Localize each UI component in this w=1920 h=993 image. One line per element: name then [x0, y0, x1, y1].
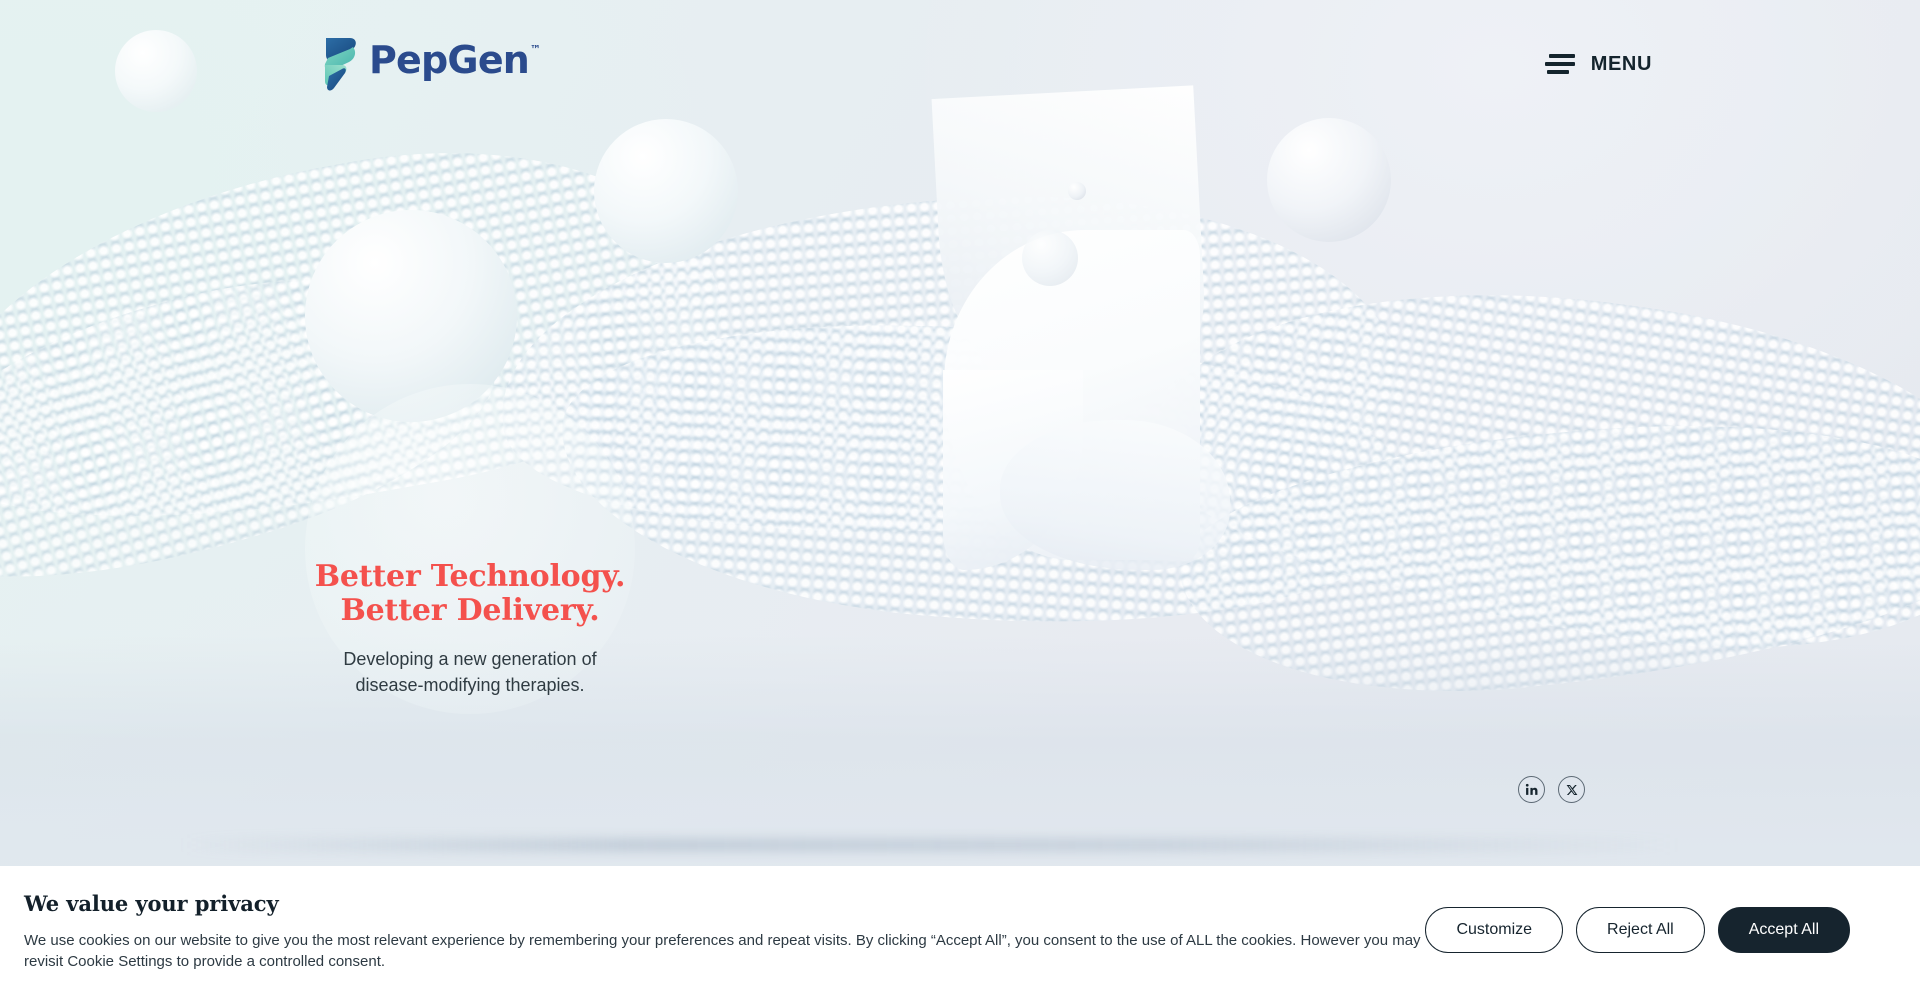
decorative-ribbon-sheet — [943, 370, 1083, 570]
hero-background — [0, 0, 1920, 866]
social-links — [1518, 776, 1585, 803]
pepgen-ribbon-mark-icon — [320, 36, 360, 92]
decorative-wave-band — [1131, 242, 1920, 688]
site-header: PepGen ™ MENU — [0, 0, 1920, 128]
decorative-ribbon-sheet — [944, 230, 1200, 560]
customize-cookies-button[interactable]: Customize — [1425, 907, 1563, 953]
cookie-text-block: We value your privacy We use cookies on … — [24, 887, 1425, 973]
decorative-sphere — [594, 119, 738, 263]
floor-reflection-streak — [180, 838, 1680, 852]
hero-title-line-1: Better Technology. — [315, 559, 626, 594]
decorative-wave-band — [551, 300, 1429, 649]
decorative-ribbon-sheet — [1000, 420, 1230, 570]
cookie-banner-title: We value your privacy — [24, 891, 1425, 916]
decorative-ribbon-sheet — [932, 85, 1211, 428]
logo-wordmark: PepGen ™ — [369, 36, 540, 79]
decorative-sphere — [1022, 230, 1078, 286]
linkedin-icon — [1525, 783, 1538, 796]
hero-title-line-2: Better Delivery. — [341, 593, 600, 628]
decorative-sphere — [1267, 118, 1391, 242]
social-link-linkedin[interactable] — [1518, 776, 1545, 803]
hero-title: Better Technology. Better Delivery. — [305, 560, 635, 627]
decorative-sphere — [1068, 182, 1086, 200]
menu-button[interactable]: MENU — [1543, 47, 1654, 82]
page-root: PepGen ™ MENU Better Technology. Better … — [0, 0, 1920, 993]
cookie-banner-actions: Customize Reject All Accept All — [1425, 907, 1864, 953]
menu-button-label: MENU — [1591, 53, 1652, 76]
hero-copy: Better Technology. Better Delivery. Deve… — [305, 560, 635, 699]
logo-trademark: ™ — [530, 44, 540, 55]
hamburger-icon — [1545, 54, 1575, 74]
hero-subtitle: Developing a new generation of disease-m… — [305, 646, 635, 699]
accept-all-cookies-button[interactable]: Accept All — [1718, 907, 1850, 953]
cookie-consent-banner: We value your privacy We use cookies on … — [0, 866, 1920, 993]
reject-all-cookies-button[interactable]: Reject All — [1576, 907, 1705, 953]
hero-subtitle-line-2: disease-modifying therapies. — [355, 675, 584, 695]
logo-brand-name: PepGen — [369, 41, 529, 79]
x-icon — [1566, 784, 1578, 796]
floor-gradient — [0, 636, 1920, 866]
logo-link[interactable]: PepGen ™ — [320, 36, 540, 92]
social-link-x[interactable] — [1558, 776, 1585, 803]
hero-subtitle-line-1: Developing a new generation of — [343, 649, 596, 669]
cookie-banner-body: We use cookies on our website to give yo… — [24, 930, 1425, 973]
